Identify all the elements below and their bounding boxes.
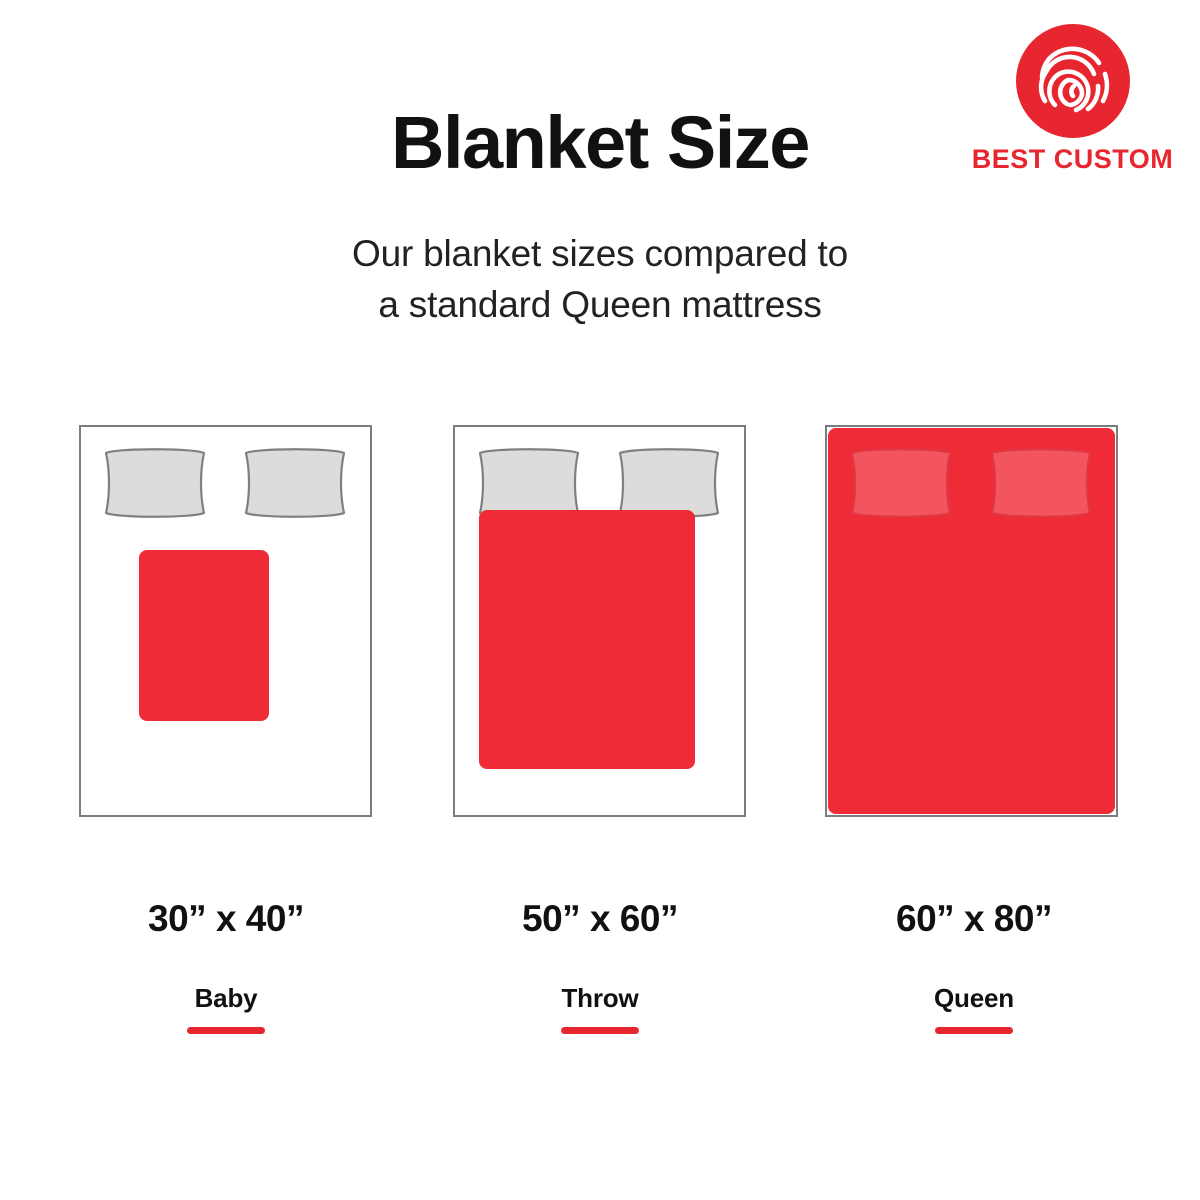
- size-captions: 30” x 40” Baby 50” x 60” Throw 60” x 80”…: [0, 900, 1200, 1060]
- pillow-right-icon: [615, 447, 723, 519]
- size-dimensions: 60” x 80”: [814, 900, 1134, 937]
- accent-underline: [561, 1027, 639, 1034]
- bed-comparison-diagrams: [0, 425, 1200, 817]
- bed-diagram-throw: [453, 425, 746, 817]
- pillow-left-icon: [475, 447, 583, 519]
- blanket-overlay-baby: [139, 550, 269, 721]
- blanket-overlay-throw: [479, 510, 695, 769]
- pillow-left-icon: [847, 447, 955, 519]
- accent-underline: [187, 1027, 265, 1034]
- bed-diagram-queen: [825, 425, 1118, 817]
- subtitle-line-2: a standard Queen mattress: [0, 279, 1200, 330]
- pillow-left-icon: [101, 447, 209, 519]
- size-dimensions: 30” x 40”: [66, 900, 386, 937]
- size-name: Queen: [814, 985, 1134, 1011]
- subtitle-line-1: Our blanket sizes compared to: [0, 228, 1200, 279]
- caption-baby: 30” x 40” Baby: [66, 900, 386, 1034]
- size-name: Baby: [66, 985, 386, 1011]
- caption-queen: 60” x 80” Queen: [814, 900, 1134, 1034]
- pillow-right-icon: [241, 447, 349, 519]
- page-title: Blanket Size: [0, 104, 1200, 182]
- accent-underline: [935, 1027, 1013, 1034]
- pillow-right-icon: [987, 447, 1095, 519]
- size-dimensions: 50” x 60”: [440, 900, 760, 937]
- page-subtitle: Our blanket sizes compared to a standard…: [0, 228, 1200, 330]
- caption-throw: 50” x 60” Throw: [440, 900, 760, 1034]
- bed-diagram-baby: [79, 425, 372, 817]
- size-name: Throw: [440, 985, 760, 1011]
